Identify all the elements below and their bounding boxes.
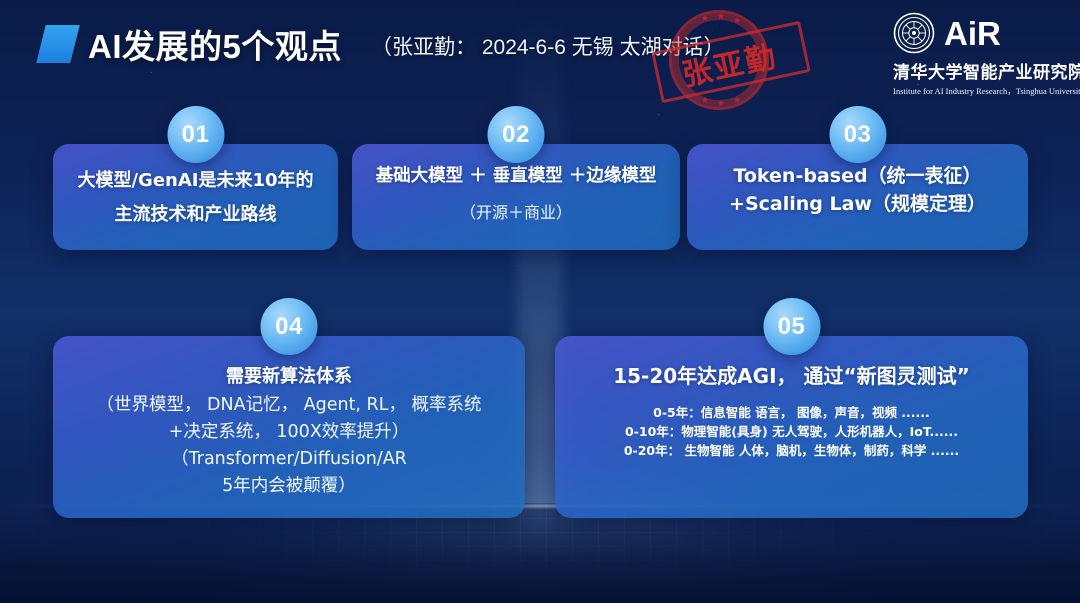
card-03-title-line2: +Scaling Law（规模定理） <box>687 190 1028 218</box>
slide-root: AI发展的5个观点 （张亚勤： 2024-6-6 无锡 太湖对话） ★ ★ ★ … <box>0 0 1080 603</box>
card-05-timeline-item: 0-20年： 生物智能 人体，脑机，生物体，制药，科学 ...... <box>555 441 1028 460</box>
stamp-star-icon: ★ <box>701 14 709 23</box>
card-badge-05: 05 <box>763 298 820 355</box>
stamp-star-icon: ★ <box>733 16 741 25</box>
card-04-sub-line1: （世界模型， DNA记忆， Agent, RL， 概率系统 <box>53 392 525 419</box>
card-badge-03: 03 <box>829 106 886 163</box>
page-subtitle: （张亚勤： 2024-6-6 无锡 太湖对话） <box>371 31 725 61</box>
card-03-title-line1: Token-based（统一表征） <box>687 162 1028 190</box>
card-01-title-line2: 主流技术和产业路线 <box>53 198 338 232</box>
card-04-sub-line4: 5年内会被颠覆） <box>53 473 525 500</box>
tsinghua-seal-icon <box>893 12 935 54</box>
card-05-timeline-item: 0-10年：物理智能(具身) 无人驾驶，人形机器人，IoT...... <box>555 422 1028 441</box>
page-title: AI发展的5个观点 <box>88 20 342 68</box>
card-05-timeline-item: 0-5年：信息智能 语言， 图像，声音，视频 ...... <box>555 403 1028 422</box>
viewpoint-card-04[interactable]: 04 需要新算法体系 （世界模型， DNA记忆， Agent, RL， 概率系统… <box>53 336 525 518</box>
card-badge-04: 04 <box>261 298 318 355</box>
title-accent-bar <box>36 25 79 63</box>
air-logo: AiR 清华大学智能产业研究院 Institute for AI Industr… <box>893 12 1069 90</box>
air-wordmark: AiR <box>944 17 1001 50</box>
card-badge-01: 01 <box>167 106 224 163</box>
background-grid <box>0 507 1080 603</box>
logo-chinese-name: 清华大学智能产业研究院 <box>893 58 1069 83</box>
viewpoint-card-01[interactable]: 01 大模型/GenAI是未来10年的 主流技术和产业路线 <box>53 144 338 250</box>
card-badge-02: 02 <box>488 106 545 163</box>
card-04-sub-line2: +决定系统， 100X效率提升） <box>53 419 525 446</box>
slide-header: AI发展的5个观点 （张亚勤： 2024-6-6 无锡 太湖对话） ★ ★ ★ … <box>0 0 1080 100</box>
stamp-star-icon: ★ <box>717 12 725 21</box>
card-01-title-line1: 大模型/GenAI是未来10年的 <box>53 164 338 198</box>
logo-english-name: Institute for AI Industry Research，Tsing… <box>893 85 1069 97</box>
viewpoint-card-05[interactable]: 05 15-20年达成AGI， 通过“新图灵测试” 0-5年：信息智能 语言， … <box>555 336 1028 518</box>
viewpoint-card-03[interactable]: 03 Token-based（统一表征） +Scaling Law（规模定理） <box>687 144 1028 250</box>
card-04-sub-line3: （Transformer/Diffusion/AR <box>53 446 525 473</box>
card-02-subtitle: （开源＋商业） <box>352 199 680 223</box>
card-05-timeline-list: 0-5年：信息智能 语言， 图像，声音，视频 ...... 0-10年：物理智能… <box>555 403 1028 460</box>
viewpoint-card-02[interactable]: 02 基础大模型 ＋ 垂直模型 ＋边缘模型 （开源＋商业） <box>352 144 680 250</box>
